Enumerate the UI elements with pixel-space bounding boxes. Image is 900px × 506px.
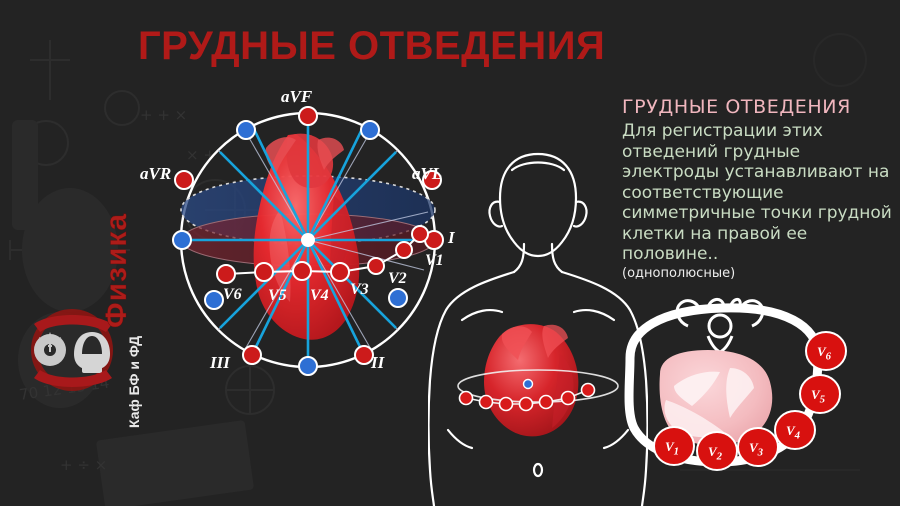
svg-text:+ ÷ ×: + ÷ × <box>60 456 107 474</box>
thorax-cross-section-diagram: V1 V2 V3 V4 V5 V6 <box>612 296 900 496</box>
panel-heading: ГРУДНЫЕ ОТВЕДЕНИЯ <box>622 96 894 118</box>
cross-electrode-label-v4: V4 <box>786 423 800 442</box>
department-watermark-logo: Физика Каф БФ и ФД <box>8 160 138 400</box>
lead-label-v3: V3 <box>350 281 369 299</box>
cross-electrode-label-v5: V5 <box>811 387 825 406</box>
cross-section-svg <box>612 296 900 496</box>
ecg-diagram-svg <box>138 100 478 380</box>
lead-label-avr: aVR <box>140 164 171 184</box>
cross-electrode-label-v2: V2 <box>708 444 722 463</box>
lead-label-ii: II <box>371 353 384 373</box>
panel-note-text: (однополюсные) <box>622 266 894 281</box>
cross-electrode-label-v6: V6 <box>817 344 831 363</box>
panel-body-text: Для регистрации этих отведений грудные э… <box>622 121 894 265</box>
lead-label-v4: V4 <box>310 287 329 305</box>
logo-brand-text: Физика <box>100 213 134 328</box>
description-panel: ГРУДНЫЕ ОТВЕДЕНИЯ Для регистрации этих о… <box>622 96 894 281</box>
page-title: ГРУДНЫЕ ОТВЕДЕНИЯ <box>138 24 605 69</box>
cross-electrode-label-v1: V1 <box>665 439 679 458</box>
cross-electrode-label-v3: V3 <box>749 440 763 459</box>
ecg-lead-vector-diagram: aVF aVR aVL I II III V1 V2 V3 V4 V5 V6 <box>138 100 478 380</box>
logo-department-text: Каф БФ и ФД <box>126 336 142 428</box>
lead-label-v5: V5 <box>268 287 287 305</box>
lead-label-v6: V6 <box>223 286 242 304</box>
heart-center-point <box>301 233 315 247</box>
lead-label-v2: V2 <box>388 270 407 288</box>
lead-label-iii: III <box>210 353 230 373</box>
lead-label-avf: aVF <box>281 87 312 107</box>
